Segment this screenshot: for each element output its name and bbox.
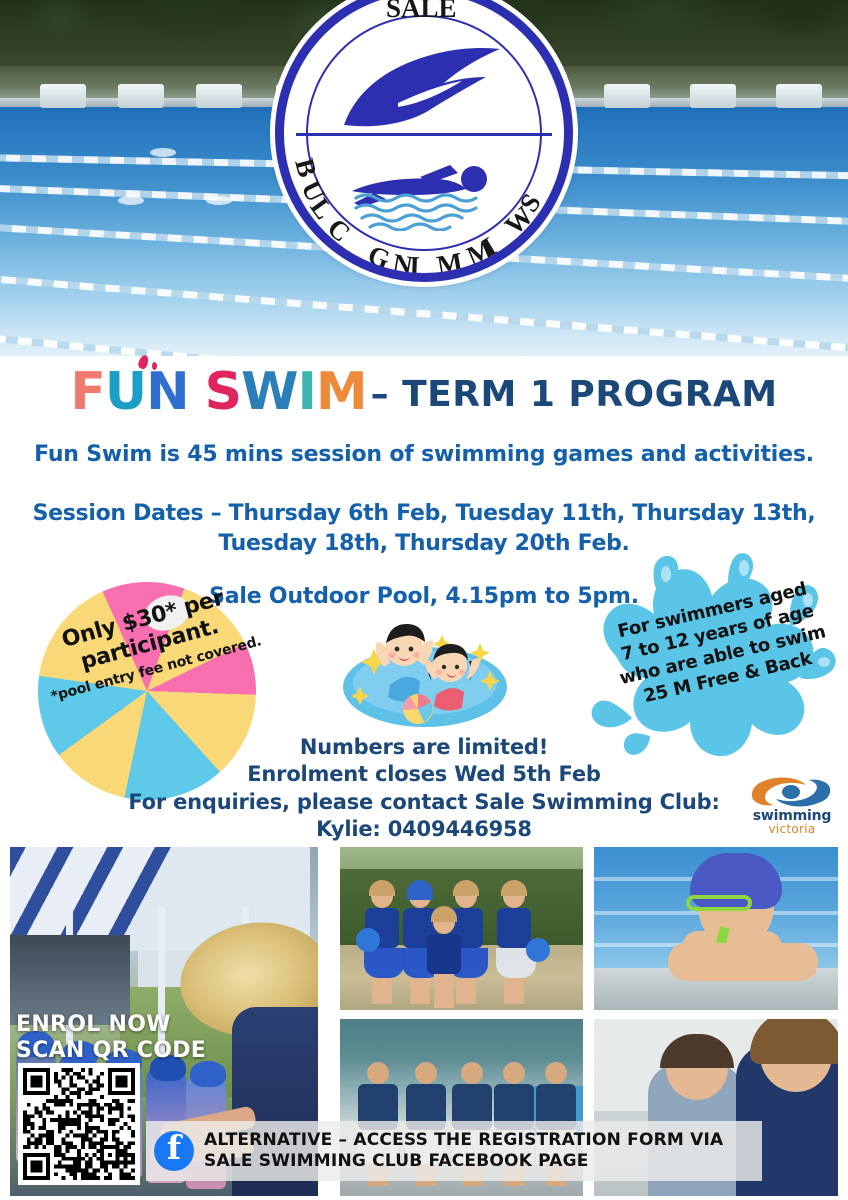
photo-girl-in-pool-cap	[594, 847, 838, 1010]
facebook-line2: SALE SWIMMING CLUB FACEBOOK PAGE	[204, 1151, 723, 1172]
term-label: – TERM 1 PROGRAM	[371, 374, 778, 415]
swimmer	[206, 196, 232, 205]
letter-m: M	[316, 366, 367, 418]
facebook-icon[interactable]	[154, 1131, 194, 1171]
wing-icon	[336, 45, 506, 131]
logo-horizon-line	[296, 133, 552, 136]
letter-i: I	[297, 366, 315, 418]
session-dates-line1: Session Dates – Thursday 6th Feb, Tuesda…	[0, 499, 848, 529]
headline: FUN SWIM – TERM 1 PROGRAM	[0, 366, 848, 418]
kids-swimming-illustration	[330, 609, 520, 729]
enrol-overlay: ENROL NOW SCAN QR CODE	[16, 1012, 206, 1065]
facebook-banner[interactable]: ALTERNATIVE – ACCESS THE REGISTRATION FO…	[146, 1121, 762, 1181]
poster-body: FUN SWIM – TERM 1 PROGRAM Fun Swim is 45…	[0, 356, 848, 843]
photo-girls-pom-poms	[340, 847, 583, 1010]
letter-w: W	[241, 366, 297, 418]
contact-block: Numbers are limited! Enrolment closes We…	[0, 734, 848, 843]
enrol-line1: ENROL NOW	[16, 1012, 206, 1038]
splash-icon: For swimmers aged 7 to 12 years of age w…	[588, 552, 846, 764]
footer-line2: Enrolment closes Wed 5th Feb	[0, 761, 848, 788]
letter-u: U	[105, 366, 146, 418]
enrol-line2: SCAN QR CODE	[16, 1038, 206, 1064]
hero-pool-photo: SALE S W I M M I N G C L U B	[0, 0, 848, 356]
facebook-line1: ALTERNATIVE – ACCESS THE REGISTRATION FO…	[204, 1130, 723, 1151]
footer-line1: Numbers are limited!	[0, 734, 848, 761]
lead-text: Fun Swim is 45 mins session of swimming …	[0, 442, 848, 467]
qr-code-icon[interactable]	[18, 1063, 140, 1185]
waves-icon	[352, 191, 492, 231]
swimmer	[118, 196, 144, 205]
letter-f: F	[70, 366, 105, 418]
footer-line3: For enquiries, please contact Sale Swimm…	[0, 789, 848, 816]
letter-s: S	[205, 366, 241, 418]
session-dates: Session Dates – Thursday 6th Feb, Tuesda…	[0, 499, 848, 560]
letter-n: N	[146, 366, 189, 418]
swimmer	[150, 148, 176, 157]
facebook-banner-text: ALTERNATIVE – ACCESS THE REGISTRATION FO…	[204, 1130, 723, 1171]
fun-swim-logotype: FUN SWIM	[70, 366, 366, 418]
footer-line4: Kylie: 0409446958	[0, 816, 848, 843]
